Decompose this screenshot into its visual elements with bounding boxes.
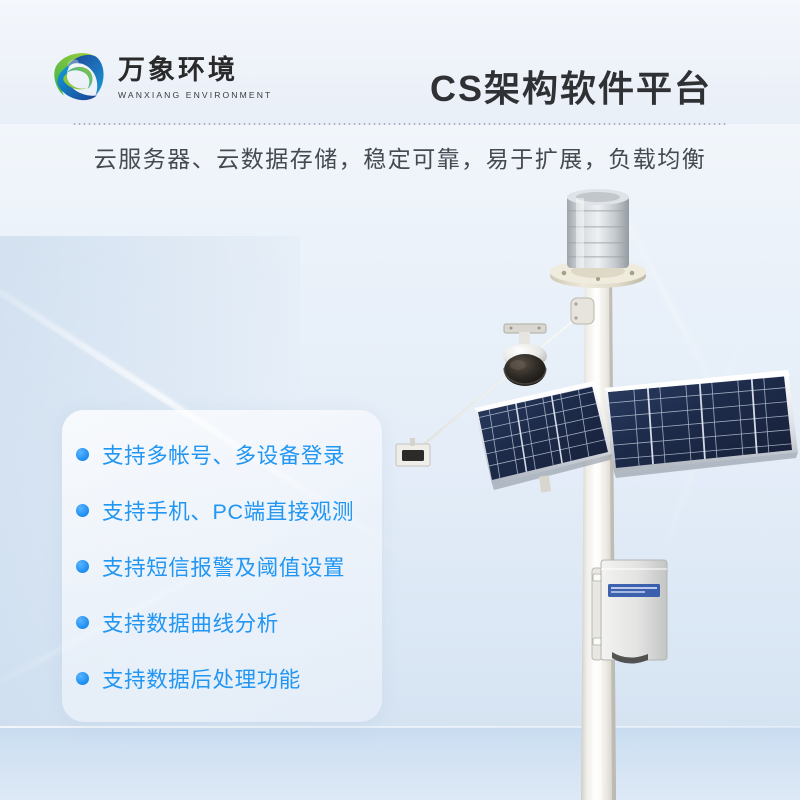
solar-weather-station-illustration [380,180,800,800]
globe-swirl-logo-icon [44,44,110,110]
floodlight-fixture [396,438,430,466]
list-item: 支持短信报警及阈值设置 [76,538,382,594]
solar-panel-right [598,352,800,480]
bullet-dot-icon [76,616,89,629]
brand-logo: 万象环境 WANXIANG ENVIRONMENT [44,44,272,110]
control-cabinet [592,560,667,664]
brand-name-cn: 万象环境 [118,56,272,86]
white-mast-pole [581,272,616,800]
bullet-dot-icon [76,448,89,461]
poster-header: 万象环境 WANXIANG ENVIRONMENT CS架构软件平台 [0,0,800,124]
bullet-dot-icon [76,504,89,517]
header-divider [72,123,726,125]
feature-label: 支持多帐号、多设备登录 [102,439,345,470]
feature-label: 支持短信报警及阈值设置 [102,551,345,582]
bullet-dot-icon [76,560,89,573]
poster-canvas: 万象环境 WANXIANG ENVIRONMENT CS架构软件平台 云服务器、… [0,0,800,800]
bullet-dot-icon [76,672,89,685]
radiation-shield-sensor [567,189,629,268]
list-item: 支持多帐号、多设备登录 [76,426,382,482]
page-title: CS架构软件平台 [430,60,712,112]
list-item: 支持数据曲线分析 [76,594,382,650]
brand-name-en: WANXIANG ENVIRONMENT [118,90,272,100]
page-subtitle: 云服务器、云数据存储，稳定可靠，易于扩展，负载均衡 [0,140,800,174]
feature-label: 支持手机、PC端直接观测 [102,495,354,526]
list-item: 支持数据后处理功能 [76,650,382,706]
feature-label: 支持数据后处理功能 [102,663,301,694]
feature-list: 支持多帐号、多设备登录 支持手机、PC端直接观测 支持短信报警及阈值设置 支持数… [62,410,382,722]
ptz-dome-camera [503,324,547,386]
list-item: 支持手机、PC端直接观测 [76,482,382,538]
feature-label: 支持数据曲线分析 [102,607,279,638]
